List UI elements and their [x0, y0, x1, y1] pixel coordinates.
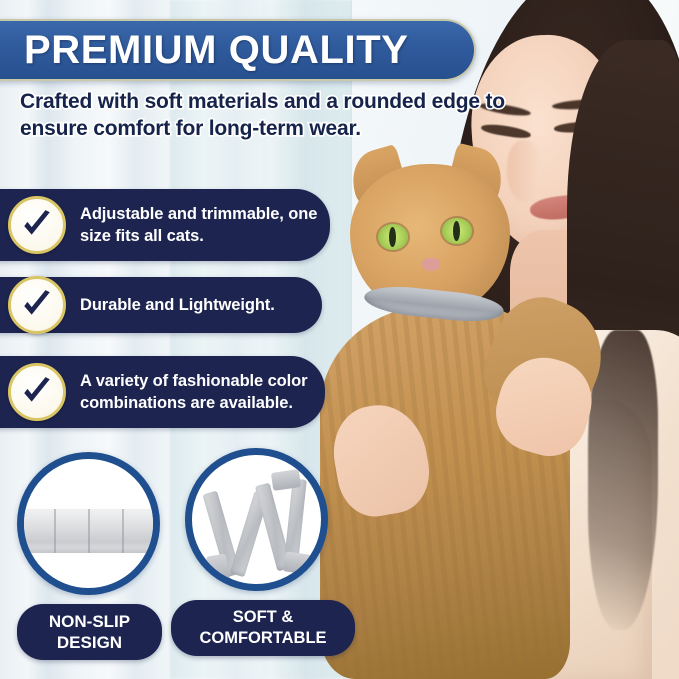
cat	[330, 150, 600, 679]
feature-bullet-2: Durable and Lightweight.	[0, 277, 322, 333]
bullet-label: A variety of fashionable color combinati…	[80, 370, 325, 414]
collar-strap-photo	[17, 452, 160, 595]
premium-quality-banner: PREMIUM QUALITY	[0, 19, 476, 81]
feature-bullet-1: Adjustable and trimmable, one size fits …	[0, 189, 330, 261]
check-icon	[8, 363, 66, 421]
subtitle-text: Crafted with soft materials and a rounde…	[20, 88, 540, 142]
feature-non-slip: NON-SLIP DESIGN	[17, 452, 162, 660]
feature-label: NON-SLIP DESIGN	[17, 604, 162, 660]
bullet-label: Adjustable and trimmable, one size fits …	[80, 203, 330, 247]
bullet-label: Durable and Lightweight.	[80, 294, 275, 316]
product-feature-image: PREMIUM QUALITY Crafted with soft materi…	[0, 0, 679, 679]
collar-folded-m-photo	[185, 448, 328, 591]
banner-title: PREMIUM QUALITY	[24, 28, 409, 73]
check-icon	[8, 276, 66, 334]
feature-label: SOFT & COMFORTABLE	[171, 600, 355, 656]
check-icon	[8, 196, 66, 254]
feature-bullet-3: A variety of fashionable color combinati…	[0, 356, 325, 428]
feature-soft-comfortable: SOFT & COMFORTABLE	[185, 448, 330, 656]
